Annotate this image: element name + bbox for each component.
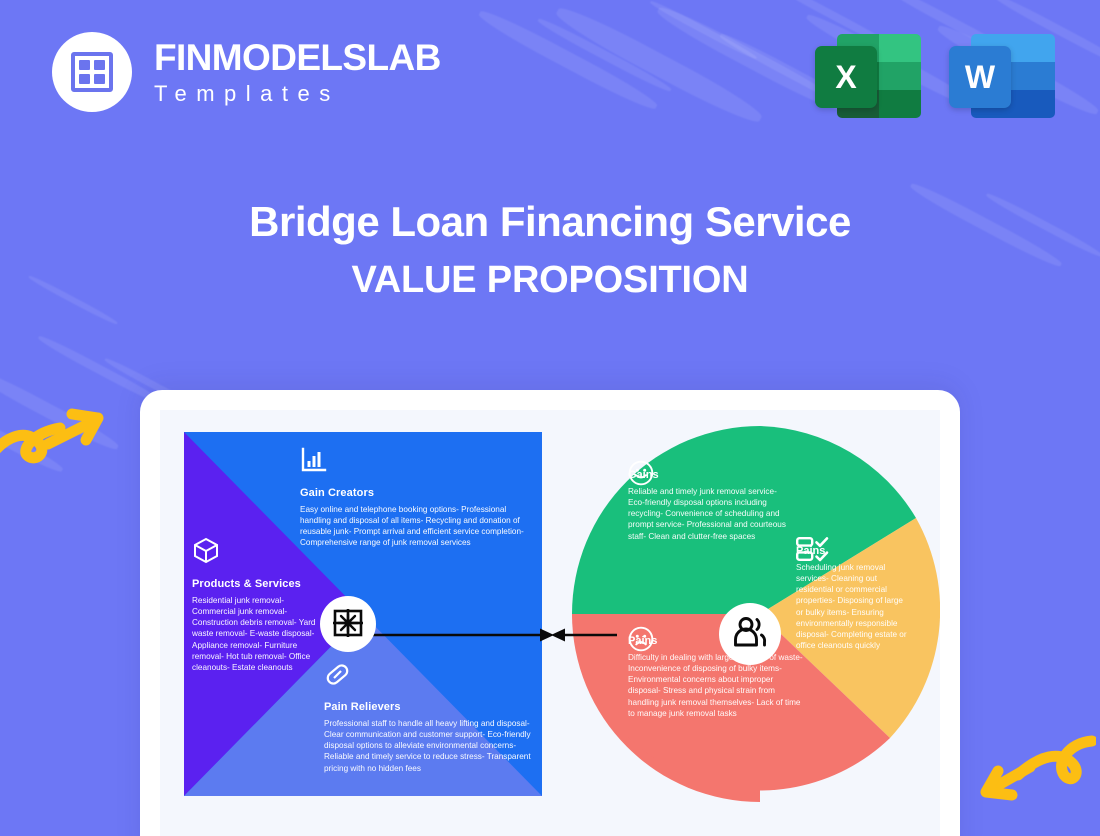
customer-profile-center-icon [719, 603, 781, 665]
products-services-title: Products & Services [192, 578, 316, 590]
page-title: Bridge Loan Financing Service [0, 198, 1100, 246]
customer-jobs-block: Pains Scheduling junk removal services- … [796, 536, 911, 651]
people-users-icon [732, 615, 768, 654]
word-icon[interactable]: W [949, 30, 1055, 122]
brand-header: FINMODELSLAB Templates [52, 32, 441, 112]
word-icon-letter: W [949, 46, 1011, 108]
connector-arrow-left [545, 626, 617, 644]
connector-arrows [348, 626, 560, 644]
box-package-icon [192, 536, 316, 569]
page-title-block: Bridge Loan Financing Service VALUE PROP… [0, 198, 1100, 302]
brand-subtitle: Templates [154, 83, 441, 105]
gains-block: Gains Reliable and timely junk removal s… [628, 460, 793, 542]
value-proposition-canvas: Gain Creators Easy online and telephone … [160, 410, 940, 836]
gain-creators-block: Gain Creators Easy online and telephone … [300, 446, 532, 549]
squiggly-arrow-down-left-icon [956, 729, 1096, 810]
gain-creators-body: Easy online and telephone booking option… [300, 504, 532, 549]
products-services-block: Products & Services Residential junk rem… [192, 536, 316, 673]
pain-relievers-block: Pain Relievers Professional staff to han… [324, 660, 532, 774]
pain-relievers-body: Professional staff to handle all heavy l… [324, 718, 532, 774]
pain-relievers-title: Pain Relievers [324, 701, 532, 713]
grid-squares-icon [71, 52, 113, 92]
bar-chart-icon [300, 446, 532, 478]
excel-icon-letter: X [815, 46, 877, 108]
arrow-left-icon [551, 629, 565, 642]
logo-badge [52, 32, 132, 112]
products-services-body: Residential junk removal- Commercial jun… [192, 595, 316, 673]
pains-body: Difficulty in dealing with large amounts… [628, 652, 806, 719]
value-map-center-icon [320, 596, 376, 652]
squiggly-arrow-up-right-icon [0, 404, 118, 475]
page-subtitle: VALUE PROPOSITION [0, 259, 1100, 302]
gift-package-icon [331, 605, 365, 644]
device-frame: Gain Creators Easy online and telephone … [140, 390, 960, 836]
gains-body: Reliable and timely junk removal service… [628, 486, 793, 542]
office-format-icons: X W [815, 30, 1055, 122]
customer-jobs-body: Scheduling junk removal services- Cleani… [796, 562, 911, 651]
pill-capsule-icon [324, 660, 532, 692]
excel-icon[interactable]: X [815, 30, 921, 122]
gain-creators-title: Gain Creators [300, 487, 532, 499]
brand-name: FINMODELSLAB [154, 39, 441, 76]
